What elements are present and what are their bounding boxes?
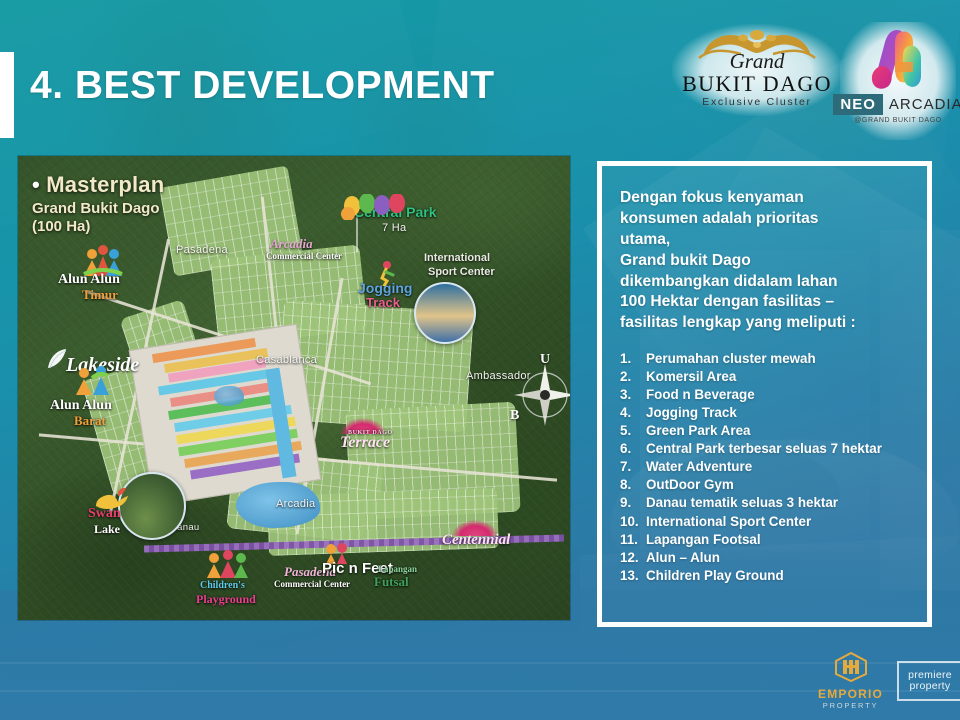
premiere-line2: property — [908, 681, 952, 692]
swan-icon — [92, 486, 132, 512]
label-childrens-playground-sub: Playground — [196, 592, 256, 607]
facility-number: 9. — [620, 494, 646, 512]
facility-list-item: 12.Alun – Alun — [620, 549, 911, 567]
neo-arcadia-logo: NEO ARCADIA @GRAND BUKIT DAGO — [840, 22, 956, 140]
facility-label: Perumahan cluster mewah — [646, 350, 816, 368]
facility-list-item: 11.Lapangan Footsal — [620, 531, 911, 549]
facility-number: 7. — [620, 458, 646, 476]
label-pasadena: Pasadena — [176, 244, 228, 256]
panel-lead-line: konsumen adalah prioritas — [620, 209, 911, 230]
label-alun-alun-timur: Alun Alun — [58, 272, 120, 288]
facility-number: 12. — [620, 549, 646, 567]
map-lake — [214, 386, 244, 406]
logo-neo-text: NEO — [833, 94, 883, 115]
background-streak — [0, 662, 960, 664]
label-alun-alun-barat: Alun Alun — [50, 398, 112, 414]
logo-neo-tagline: @GRAND BUKIT DAGO — [840, 117, 956, 124]
map-heading: • Masterplan Grand Bukit Dago (100 Ha) — [32, 172, 164, 235]
facility-number: 13. — [620, 567, 646, 585]
premiere-property-logo: premiere property — [897, 661, 960, 701]
panel-lead-line: 100 Hektar dengan fasilitas – — [620, 292, 911, 313]
logo-exclusive-cluster-text: Exclusive Cluster — [672, 96, 842, 108]
label-swan-lake-sub: Lake — [94, 522, 120, 537]
neo-arcadia-a-mark-icon — [861, 26, 935, 98]
facility-number: 8. — [620, 476, 646, 494]
label-alun-alun-timur-sub: Timur — [82, 287, 118, 303]
masterplan-map[interactable]: • Masterplan Grand Bukit Dago (100 Ha) A… — [18, 156, 570, 620]
facility-list-item: 6.Central Park terbesar seluas 7 hektar — [620, 440, 911, 458]
facility-number: 4. — [620, 404, 646, 422]
page-title: 4. BEST DEVELOPMENT — [30, 64, 495, 108]
emporio-hexagon-icon — [834, 652, 868, 682]
facilities-panel: Dengan fokus kenyamankonsumen adalah pri… — [597, 161, 932, 627]
childrens-playground-people-icon — [204, 548, 250, 584]
map-heading-line1: Masterplan — [46, 172, 164, 197]
facility-list-item: 8.OutDoor Gym — [620, 476, 911, 494]
emporio-name: EMPORIO — [818, 688, 883, 701]
label-centennial: Centennial — [442, 532, 510, 549]
slide-root: 4. BEST DEVELOPMENT Grand BUKIT DAGO Exc… — [0, 0, 960, 720]
label-casablanca: Casablanca — [256, 354, 317, 366]
facility-list-item: 9.Danau tematik seluas 3 hektar — [620, 494, 911, 512]
facility-label: Green Park Area — [646, 422, 750, 440]
label-terrace: Terrace — [340, 434, 390, 452]
label-jogging-track-sub: Track — [366, 295, 400, 310]
map-heading-line3: (100 Ha) — [32, 218, 164, 235]
logo-arcadia-text: ARCADIA — [883, 96, 960, 113]
compass-rose-icon — [510, 360, 570, 430]
panel-lead-line: Dengan fokus kenyaman — [620, 188, 911, 209]
facility-list-item: 13.Children Play Ground — [620, 567, 911, 585]
emporio-property-logo: EMPORIO PROPERTY — [818, 652, 883, 710]
facility-label: Lapangan Footsal — [646, 531, 761, 549]
label-lapangan-footsal-sub: Futsal — [374, 574, 409, 590]
label-alun-alun-barat-sub: Barat — [74, 413, 106, 429]
panel-lead-line: Grand bukit Dago — [620, 251, 911, 272]
facility-label: Alun – Alun — [646, 549, 720, 567]
facility-list-item: 3.Food n Beverage — [620, 386, 911, 404]
label-arcadia-commercial: Arcadia — [270, 236, 313, 252]
sport-center-photo-bubble[interactable] — [414, 282, 476, 344]
facility-label: Children Play Ground — [646, 567, 784, 585]
facility-number: 1. — [620, 350, 646, 368]
facility-label: Danau tematik seluas 3 hektar — [646, 494, 838, 512]
alun-alun-barat-people-icon — [72, 364, 116, 402]
facility-number: 2. — [620, 368, 646, 386]
label-arcadia-commercial-sub: Commercial Center — [266, 251, 342, 261]
facility-label: Komersil Area — [646, 368, 736, 386]
panel-lead-line: dikembangkan didalam lahan — [620, 272, 911, 293]
label-arcadia-plot: Arcadia — [276, 498, 315, 510]
facility-label: Central Park terbesar seluas 7 hektar — [646, 440, 882, 458]
background-streak — [0, 690, 960, 692]
facility-list-item: 1.Perumahan cluster mewah — [620, 350, 911, 368]
facility-list-item: 7.Water Adventure — [620, 458, 911, 476]
facility-number: 3. — [620, 386, 646, 404]
facility-list-item: 10.International Sport Center — [620, 513, 911, 531]
label-childrens-playground: Children's — [200, 580, 245, 591]
logo-grand-text: Grand — [672, 51, 842, 72]
facility-list-item: 4.Jogging Track — [620, 404, 911, 422]
facility-number: 5. — [620, 422, 646, 440]
label-lapangan-footsal: Lapangan — [378, 564, 417, 574]
facility-list-item: 2.Komersil Area — [620, 368, 911, 386]
facility-number: 10. — [620, 513, 646, 531]
facility-label: International Sport Center — [646, 513, 811, 531]
facility-number: 6. — [620, 440, 646, 458]
title-accent-bar — [0, 52, 14, 138]
panel-lead-line: utama, — [620, 230, 911, 251]
map-heading-line2: Grand Bukit Dago — [32, 200, 164, 217]
facilities-list: 1.Perumahan cluster mewah2.Komersil Area… — [620, 350, 911, 584]
central-park-leader-line — [356, 216, 358, 252]
panel-lead-text: Dengan fokus kenyamankonsumen adalah pri… — [620, 188, 911, 334]
facility-label: Water Adventure — [646, 458, 752, 476]
facility-label: Food n Beverage — [646, 386, 755, 404]
facility-number: 11. — [620, 531, 646, 549]
jogging-runner-icon — [374, 260, 396, 286]
facility-label: OutDoor Gym — [646, 476, 734, 494]
label-international-sport-center-sub: Sport Center — [428, 266, 495, 278]
label-pasadena-commercial-sub: Commercial Center — [274, 579, 350, 589]
logo-bukit-dago-text: BUKIT DAGO — [672, 72, 842, 95]
label-central-park-size: 7 Ha — [382, 222, 406, 234]
panel-lead-line: fasilitas lengkap yang meliputi : — [620, 313, 911, 334]
facility-label: Jogging Track — [646, 404, 737, 422]
central-park-balloon-icon — [340, 194, 412, 220]
footer-logos: EMPORIO PROPERTY premiere property — [818, 652, 960, 710]
grand-bukit-dago-logo: Grand BUKIT DAGO Exclusive Cluster — [672, 24, 842, 116]
label-international-sport-center: International — [424, 252, 490, 264]
facility-list-item: 5.Green Park Area — [620, 422, 911, 440]
emporio-subtitle: PROPERTY — [818, 701, 883, 710]
